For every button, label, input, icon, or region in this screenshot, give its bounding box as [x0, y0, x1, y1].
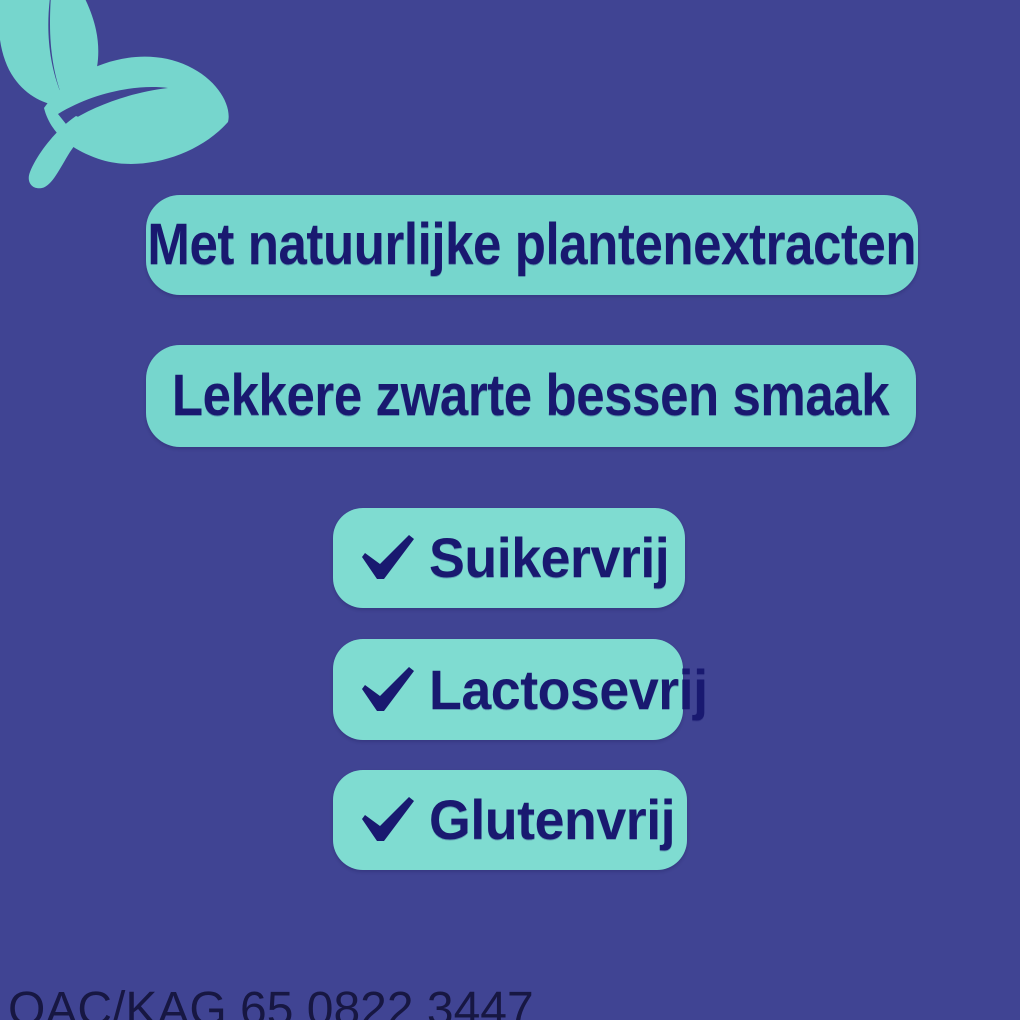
- footer-reference-code: OAC/KAG 65 0822 3447: [8, 986, 534, 1020]
- promo-card: Met natuurlijke plantenextracten Lekkere…: [0, 0, 1020, 1020]
- benefit-pill-sugar-free: Suikervrij: [333, 508, 685, 608]
- headline-pill-label: Met natuurlijke plantenextracten: [148, 216, 917, 274]
- headline-pill-label: Lekkere zwarte bessen smaak: [172, 367, 889, 425]
- benefit-pill-label: Suikervrij: [429, 530, 669, 586]
- benefit-pill-label: Glutenvrij: [429, 792, 675, 848]
- check-icon: [359, 795, 417, 845]
- headline-pill-natural-extracts: Met natuurlijke plantenextracten: [146, 195, 918, 295]
- benefit-pill-lactose-free: Lactosevrij: [333, 639, 683, 740]
- benefit-pill-gluten-free: Glutenvrij: [333, 770, 687, 870]
- headline-pill-blackcurrant-flavour: Lekkere zwarte bessen smaak: [146, 345, 916, 447]
- leaf-sprout-logo: [0, 0, 232, 196]
- check-icon: [359, 665, 417, 715]
- check-icon: [359, 533, 417, 583]
- benefit-pill-label: Lactosevrij: [429, 662, 708, 718]
